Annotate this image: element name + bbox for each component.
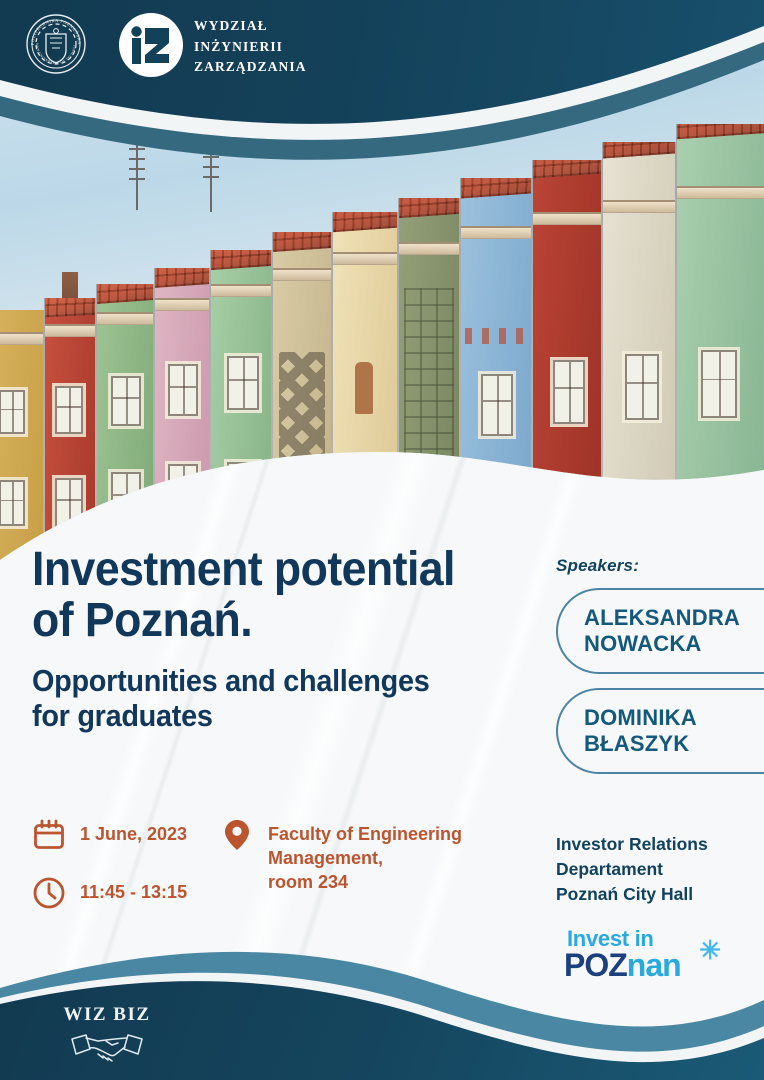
time-row: 11:45 - 13:15 — [32, 876, 242, 910]
location-line-2: Management, — [268, 847, 462, 871]
location-line-1: Faculty of Engineering — [268, 823, 462, 847]
title-sub-line-2: for graduates — [32, 698, 497, 733]
header-logo-bar: POLITECHNIKA POZNAŃSKA POZNAN UNIVERSITY… — [0, 0, 764, 92]
poznan-university-seal-icon: POLITECHNIKA POZNAŃSKA POZNAN UNIVERSITY… — [24, 12, 88, 76]
event-time: 11:45 - 13:15 — [80, 876, 187, 905]
clock-icon — [32, 876, 66, 910]
speakers-label: Speakers: — [556, 556, 764, 576]
event-location: Faculty of Engineering Management, room … — [268, 818, 462, 894]
facade-figure-fresco — [355, 362, 373, 414]
poster-title-block: Investment potential of Poznań. Opportun… — [32, 545, 532, 733]
handshake-icon — [68, 1029, 146, 1069]
speaker-1-first-name: ALEKSANDRA — [584, 605, 740, 631]
title-main-line-1: Investment potential — [32, 545, 497, 596]
faculty-line-3: ZARZĄDZANIA — [194, 57, 307, 78]
location-row: Faculty of Engineering Management, room … — [222, 818, 512, 894]
speaker-2-first-name: DOMINIKA — [584, 705, 697, 731]
invest-logo-nan: nan — [627, 947, 681, 983]
speaker-name-2: DOMINIKA BŁASZYK — [584, 705, 697, 758]
page-subtitle: Opportunities and challenges for graduat… — [32, 663, 497, 734]
wizbiz-label: WIZ BIZ — [52, 1004, 162, 1026]
event-date: 1 June, 2023 — [80, 818, 187, 847]
invest-logo-poz: POZ — [564, 947, 627, 983]
invest-in-poznan-logo: Invest in POZnan✳ — [564, 929, 714, 982]
date-row: 1 June, 2023 — [32, 818, 242, 852]
invest-in-logo-top: Invest in — [567, 929, 714, 950]
location-column: Faculty of Engineering Management, room … — [222, 818, 512, 918]
house-1 — [0, 310, 44, 560]
organiser-line-1: Investor Relations — [556, 832, 764, 857]
page-title: Investment potential of Poznań. — [32, 545, 497, 647]
organiser-line-2: Departament — [556, 857, 764, 882]
speaker-card-1: ALEKSANDRA NOWACKA — [556, 588, 764, 674]
organiser-block: Investor Relations Departament Poznań Ci… — [556, 832, 764, 981]
invest-in-logo-bottom: POZnan✳ — [564, 949, 714, 981]
tv-antenna-icon — [210, 152, 212, 212]
title-main-line-2: of Poznań. — [32, 596, 497, 647]
iz-faculty-logo-icon — [118, 12, 184, 78]
faculty-line-1: WYDZIAŁ — [194, 16, 307, 37]
map-pin-icon — [222, 818, 252, 852]
faculty-line-2: INŻYNIERII — [194, 37, 307, 58]
speaker-card-2: DOMINIKA BŁASZYK — [556, 688, 764, 774]
speaker-1-last-name: NOWACKA — [584, 631, 740, 657]
date-time-column: 1 June, 2023 11:45 - 13:15 — [32, 818, 242, 934]
asterisk-icon: ✳ — [699, 937, 720, 963]
location-line-3: room 234 — [268, 871, 462, 895]
title-sub-line-1: Opportunities and challenges — [32, 663, 497, 698]
speaker-name-1: ALEKSANDRA NOWACKA — [584, 605, 740, 658]
calendar-icon — [32, 818, 66, 852]
speakers-section: Speakers: ALEKSANDRA NOWACKA DOMINIKA BŁ… — [556, 556, 764, 788]
wizbiz-logo: WIZ BIZ — [52, 1004, 162, 1074]
event-poster: POLITECHNIKA POZNAŃSKA POZNAN UNIVERSITY… — [0, 0, 764, 1080]
faculty-name: WYDZIAŁ INŻYNIERII ZARZĄDZANIA — [194, 16, 307, 78]
speaker-2-last-name: BŁASZYK — [584, 731, 697, 757]
organiser-line-3: Poznań City Hall — [556, 882, 764, 907]
